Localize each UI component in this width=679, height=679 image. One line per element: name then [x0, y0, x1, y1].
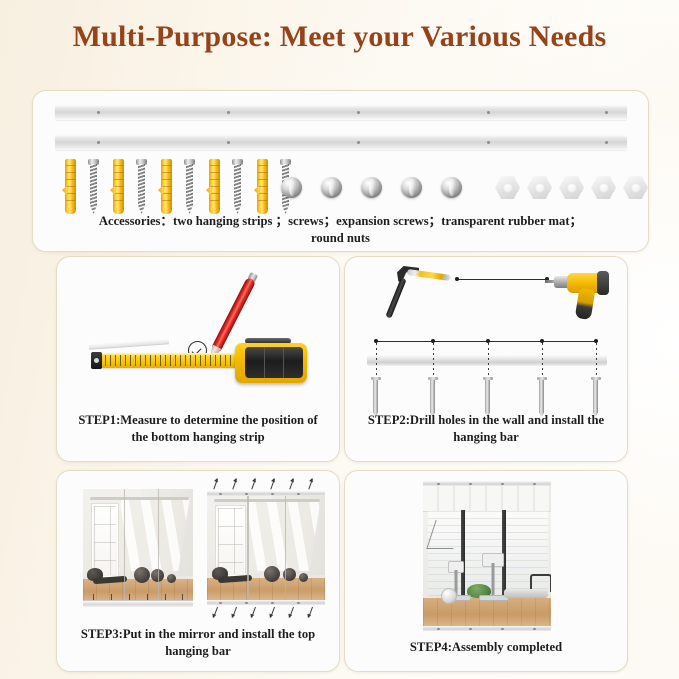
bar-hole	[245, 493, 248, 496]
bar-hole	[219, 493, 222, 496]
bar-hole	[533, 483, 536, 486]
sunlight-pattern	[110, 498, 190, 571]
screw-shank	[186, 164, 193, 214]
anchor-cap	[537, 377, 547, 380]
treadmill-deck	[504, 589, 548, 598]
strip-hole	[357, 141, 360, 144]
anchor-screw	[593, 377, 598, 417]
clip-arrow-bottom	[289, 607, 294, 618]
step4-panel: STEP4:Assembly completed	[344, 470, 628, 672]
hanging-strip-2	[55, 135, 627, 150]
clip-mark	[182, 594, 183, 600]
strip-hole	[605, 111, 608, 114]
step3-image-right-group	[207, 479, 325, 619]
anchor-screw	[373, 377, 378, 417]
hanging-strip-1	[55, 105, 627, 120]
hole-guide-line	[376, 343, 377, 377]
round-nut	[321, 177, 342, 198]
clip-arrow-top	[232, 479, 237, 490]
accessories-caption-line2: round nuts	[43, 230, 638, 247]
clip-arrow-top	[270, 479, 275, 490]
screw	[185, 159, 194, 214]
accessories-caption-line1: Accessories：two hanging strips ；screws；e…	[43, 213, 638, 230]
tape-blade	[89, 338, 169, 350]
treadmill	[504, 572, 548, 598]
transparent-rubber-mat	[623, 176, 648, 199]
clip-arrow-top	[308, 479, 313, 490]
anchor-screw	[539, 377, 544, 417]
clip-arrow-bottom	[232, 607, 237, 618]
round-nut	[441, 177, 462, 198]
top-hanging-bar	[207, 491, 325, 496]
clip-arrow-bottom	[213, 607, 218, 618]
screw	[89, 159, 98, 214]
bar-hole	[533, 628, 536, 631]
bar-hole	[501, 483, 504, 486]
clip-mark	[147, 594, 148, 600]
exercise-ball	[134, 567, 150, 583]
bar-hole	[271, 602, 274, 605]
tape-measure-body	[235, 343, 307, 383]
bar-hole	[469, 628, 472, 631]
clip-mark	[93, 594, 94, 600]
page-title: Multi-Purpose: Meet your Various Needs	[0, 20, 679, 54]
screw-shank	[234, 164, 241, 214]
step3-caption-line2: hanging bar	[67, 643, 329, 660]
strip-hole	[487, 141, 490, 144]
accessories-panel: Accessories：two hanging strips ；screws；e…	[32, 90, 649, 252]
transparent-rubber-mat	[495, 176, 520, 199]
bottom-hanging-bar	[83, 600, 193, 607]
hole-guide-line	[596, 343, 597, 377]
page-root: Multi-Purpose: Meet your Various Needs	[0, 0, 679, 679]
bar-hole	[469, 483, 472, 486]
step1-panel: STEP1:Measure to determine the position …	[56, 256, 340, 462]
clip-mark	[165, 594, 166, 600]
step1-caption-line2: the bottom hanging strip	[67, 429, 329, 446]
transparent-rubber-mat	[559, 176, 584, 199]
anchor-cap	[428, 377, 438, 380]
anchor-screw	[430, 377, 435, 417]
hanging-bar	[367, 355, 607, 366]
room-scene	[83, 489, 193, 607]
tape-ticks	[105, 355, 235, 366]
hole-guide-line	[488, 343, 489, 377]
mirror-seam	[158, 489, 160, 607]
step1-caption-line1: STEP1:Measure to determine the position …	[67, 412, 329, 429]
bottom-hanging-bar	[207, 600, 325, 605]
bar-hole	[437, 483, 440, 486]
expansion-anchor	[209, 159, 220, 214]
step2-caption-line1: STEP2:Drill holes in the wall and instal…	[355, 412, 617, 429]
anchor-cap	[591, 377, 601, 380]
clip-arrow-top	[251, 479, 256, 490]
expansion-anchor	[161, 159, 172, 214]
expansion-anchor	[257, 159, 268, 214]
round-nut	[281, 177, 302, 198]
elliptical-trainer	[479, 553, 507, 601]
screw-shank	[138, 164, 145, 214]
tape-hook	[91, 352, 102, 369]
clip-arrow-top	[213, 479, 218, 490]
screw	[137, 159, 146, 214]
strip-hole	[227, 111, 230, 114]
strip-hole	[97, 141, 100, 144]
screw	[233, 159, 242, 214]
expansion-anchor	[65, 159, 76, 214]
mirror-seam	[124, 489, 126, 607]
tape-body-black	[245, 347, 303, 378]
ceiling-beam	[214, 499, 320, 502]
bar-hole	[501, 628, 504, 631]
clip-mark	[129, 594, 130, 600]
exercise-ball	[264, 566, 280, 582]
round-nut	[401, 177, 422, 198]
step3-panel: STEP3:Put in the mirror and install the …	[56, 470, 340, 672]
tool-connector-line	[458, 279, 548, 280]
hole-guide-line	[433, 343, 434, 377]
step4-image	[423, 481, 551, 631]
sunlight-pattern	[237, 500, 321, 571]
anchor-screw	[485, 377, 490, 417]
clip-mark	[111, 594, 112, 600]
hammer-shaft	[385, 277, 406, 318]
anchor-cap	[483, 377, 493, 380]
screw-shank	[90, 164, 97, 214]
step3-image-left	[83, 489, 193, 607]
strip-hole	[605, 141, 608, 144]
strip-hole	[487, 111, 490, 114]
step2-caption-line2: hanging bar	[355, 429, 617, 446]
strip-hole	[97, 111, 100, 114]
small-ball	[441, 588, 457, 604]
gym-scene	[423, 481, 551, 631]
bar-hole	[245, 602, 248, 605]
bar-hole	[297, 493, 300, 496]
clip-arrow-top	[289, 479, 294, 490]
strip-hole	[357, 111, 360, 114]
step3-image-right	[207, 491, 325, 605]
hammer-handle	[407, 269, 451, 281]
transparent-rubber-mat	[527, 176, 552, 199]
bar-hole	[437, 628, 440, 631]
bottom-hanging-bar	[423, 626, 551, 631]
electric-drill-icon	[553, 269, 609, 321]
transparent-rubber-mat	[591, 176, 616, 199]
top-hanging-bar	[423, 481, 551, 486]
mirror-seam	[247, 491, 249, 605]
anchor-cap	[371, 377, 381, 380]
exercise-ball	[167, 574, 176, 583]
trainer-stem	[492, 563, 495, 597]
expansion-anchor	[113, 159, 124, 214]
clip-arrow-bottom	[308, 607, 313, 618]
bar-hole	[219, 602, 222, 605]
drill-grip	[575, 288, 595, 320]
bar-hole	[271, 493, 274, 496]
room-scene	[207, 491, 325, 605]
hole-guide-line	[542, 343, 543, 377]
clip-arrow-bottom	[270, 607, 275, 618]
tape-measure-strip	[99, 353, 239, 368]
step2-panel: STEP2:Drill holes in the wall and instal…	[344, 256, 628, 462]
connector-dot	[455, 277, 459, 281]
clip-arrow-bottom	[251, 607, 256, 618]
room-window	[91, 503, 119, 578]
strip-hole	[227, 141, 230, 144]
mirror-seam	[285, 491, 287, 605]
step4-caption-line1: STEP4:Assembly completed	[355, 639, 617, 656]
round-nut	[361, 177, 382, 198]
drill-rear	[597, 271, 609, 295]
bar-hole	[297, 602, 300, 605]
step3-caption-line1: STEP3:Put in the mirror and install the …	[67, 626, 329, 643]
ceiling-beam	[90, 497, 189, 500]
